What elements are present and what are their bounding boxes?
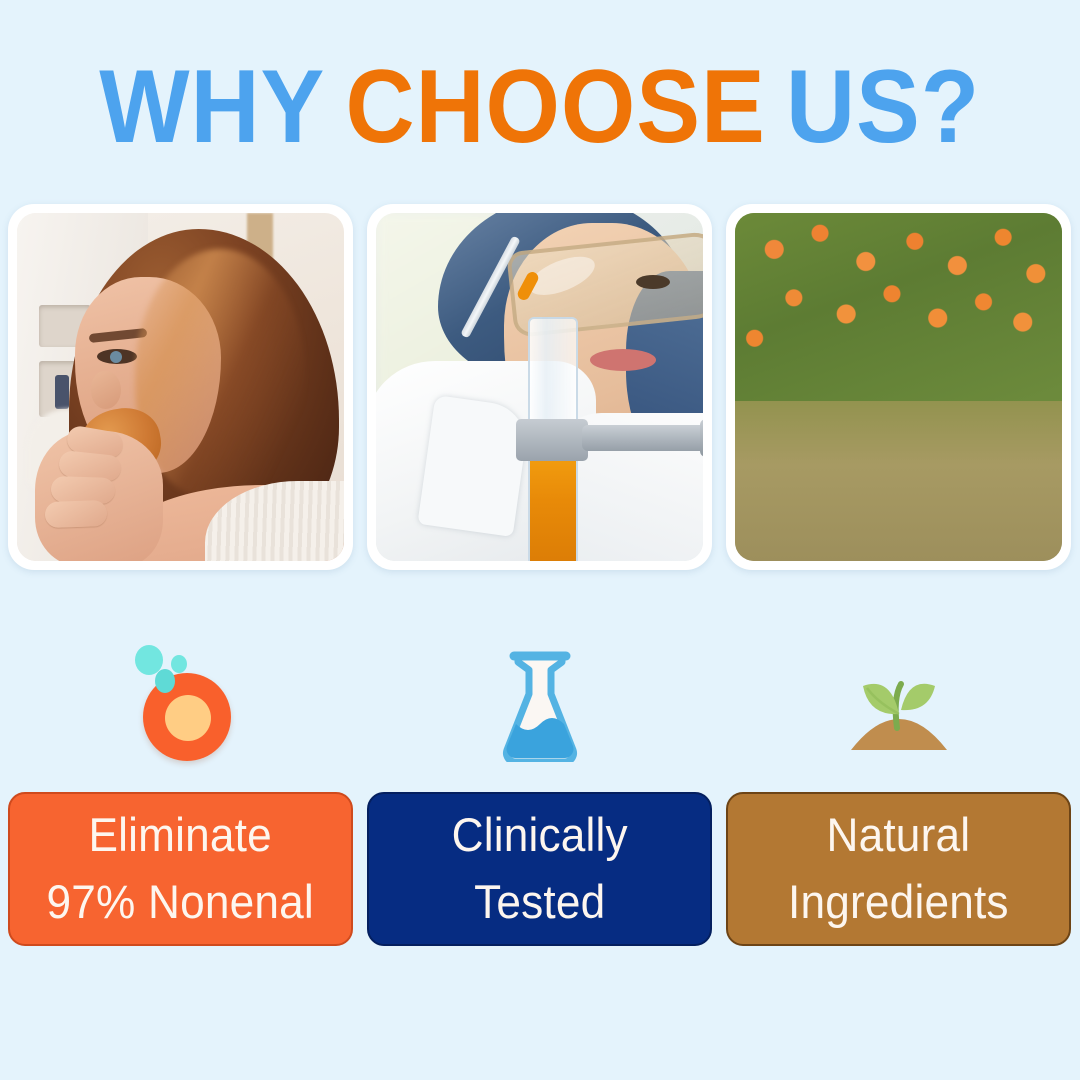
photo-card-orange-farmers[interactable] bbox=[726, 204, 1071, 570]
feature-label-line2-clinically: Tested bbox=[451, 869, 627, 936]
page-title: WHYCHOOSEUS? bbox=[0, 52, 1080, 162]
feature-icon-row bbox=[8, 628, 1072, 778]
heading-part-choose: CHOOSE bbox=[346, 49, 766, 165]
photo-orange-farmers bbox=[735, 213, 1062, 561]
photo-gallery bbox=[8, 204, 1072, 570]
flask-icon bbox=[490, 644, 590, 762]
feature-icon-cell-1 bbox=[8, 628, 353, 778]
feature-label-line1-clinically: Clinically bbox=[451, 802, 627, 869]
feature-icon-cell-2 bbox=[367, 628, 712, 778]
feature-card-eliminate-nonenal[interactable]: Eliminate 97% Nonenal bbox=[8, 792, 353, 946]
orange-bubble-icon bbox=[127, 643, 235, 763]
photo-lab-scientist bbox=[376, 213, 703, 561]
feature-label-line1-natural: Natural bbox=[788, 802, 1009, 869]
photo-card-woman-smelling-soap[interactable] bbox=[8, 204, 353, 570]
seedling-icon bbox=[839, 648, 959, 758]
photo-woman-smelling-soap bbox=[17, 213, 344, 561]
heading-part-us: US? bbox=[786, 49, 980, 165]
feature-label-line1-eliminate: Eliminate bbox=[47, 802, 314, 869]
heading-text: WHYCHOOSEUS? bbox=[100, 55, 981, 159]
feature-label-line2-eliminate: 97% Nonenal bbox=[47, 869, 314, 936]
heading-part-why: WHY bbox=[100, 49, 326, 165]
feature-card-clinically-tested[interactable]: Clinically Tested bbox=[367, 792, 712, 946]
photo-card-lab-scientist[interactable] bbox=[367, 204, 712, 570]
feature-icon-cell-3 bbox=[726, 628, 1071, 778]
feature-card-natural-ingredients[interactable]: Natural Ingredients bbox=[726, 792, 1071, 946]
feature-label-line2-natural: Ingredients bbox=[788, 869, 1009, 936]
feature-label-row: Eliminate 97% Nonenal Clinically Tested … bbox=[8, 792, 1072, 946]
